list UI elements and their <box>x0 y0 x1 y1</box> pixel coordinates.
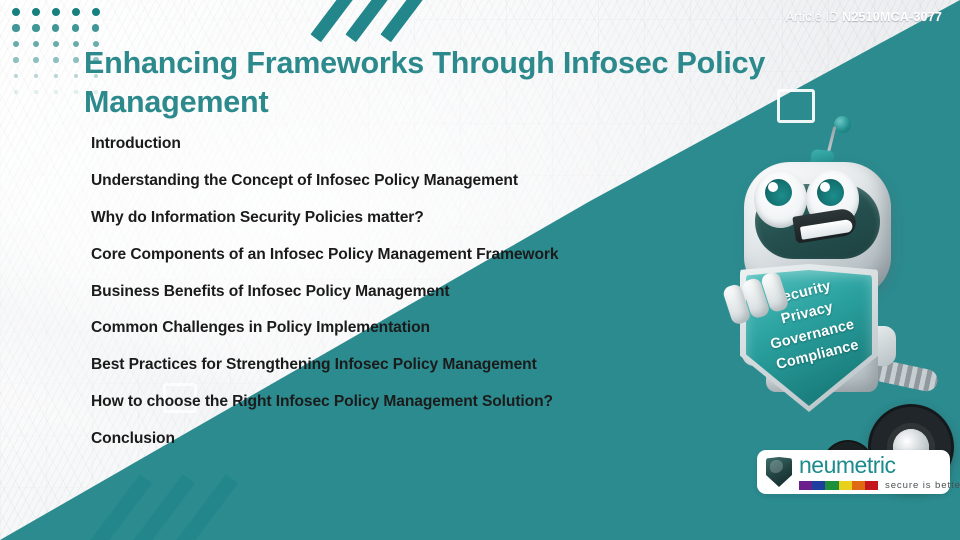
dot <box>72 8 80 16</box>
logo-color-bar-3 <box>825 481 838 490</box>
logo-color-bar-6 <box>865 481 878 490</box>
logo-color-bars <box>799 481 878 490</box>
toc-item-6[interactable]: Common Challenges in Policy Implementati… <box>91 320 751 336</box>
article-id-value: N2510MCA-3077 <box>842 10 942 24</box>
dot <box>52 24 59 31</box>
logo-tagline: secure is better <box>885 480 960 491</box>
toc-item-9[interactable]: Conclusion <box>91 431 751 447</box>
logo-color-bar-4 <box>839 481 852 490</box>
slide-canvas: Article ID N2510MCA-3077 Enhancing Frame… <box>0 0 960 540</box>
dot-grid-row <box>6 20 106 36</box>
dot <box>73 57 78 62</box>
dot <box>54 74 58 78</box>
logo-text-block: neumetric secure is better <box>799 454 941 491</box>
dot <box>92 8 100 16</box>
logo-bottom-row: secure is better <box>799 480 941 491</box>
dot-grid-row <box>6 4 106 20</box>
toc-item-4[interactable]: Core Components of an Infosec Policy Man… <box>91 247 751 263</box>
dot <box>13 57 18 62</box>
dot <box>32 24 39 31</box>
dot <box>14 90 18 94</box>
article-id: Article ID N2510MCA-3077 <box>786 10 942 24</box>
toc-item-7[interactable]: Best Practices for Strengthening Infosec… <box>91 357 751 373</box>
logo-color-bar-1 <box>799 481 812 490</box>
dot <box>12 24 19 31</box>
toc-item-8[interactable]: How to choose the Right Infosec Policy M… <box>91 394 751 410</box>
dot <box>12 8 20 16</box>
dot <box>52 8 60 16</box>
dot <box>53 41 59 47</box>
robot-antenna-ball-icon <box>834 116 851 133</box>
article-id-label: Article ID <box>786 10 839 24</box>
toc-item-1[interactable]: Introduction <box>91 136 751 152</box>
dot <box>72 24 79 31</box>
neumetric-logo[interactable]: neumetric secure is better <box>757 450 950 494</box>
dot <box>32 8 40 16</box>
logo-wordmark: neumetric <box>799 454 941 477</box>
dot <box>33 57 38 62</box>
toc-item-2[interactable]: Understanding the Concept of Infosec Pol… <box>91 173 751 189</box>
dot <box>14 74 18 78</box>
dot <box>34 90 38 94</box>
dot <box>74 90 78 94</box>
dot <box>54 90 58 94</box>
dot <box>92 24 99 31</box>
robot-eye-glint-right <box>820 182 830 192</box>
top-stripe-3 <box>380 0 424 42</box>
logo-color-bar-2 <box>812 481 825 490</box>
dot <box>74 74 78 78</box>
shield-icon <box>766 457 792 487</box>
toc-item-3[interactable]: Why do Information Security Policies mat… <box>91 210 751 226</box>
dot <box>13 41 19 47</box>
dot <box>34 74 38 78</box>
dot <box>53 57 58 62</box>
dot <box>33 41 39 47</box>
robot-mascot: SecurityPrivacyGovernanceCompliance <box>716 104 960 434</box>
dot <box>73 41 79 47</box>
toc-item-5[interactable]: Business Benefits of Infosec Policy Mana… <box>91 284 751 300</box>
logo-color-bar-5 <box>852 481 865 490</box>
table-of-contents: IntroductionUnderstanding the Concept of… <box>91 136 751 468</box>
robot-eye-glint-left <box>768 182 778 192</box>
